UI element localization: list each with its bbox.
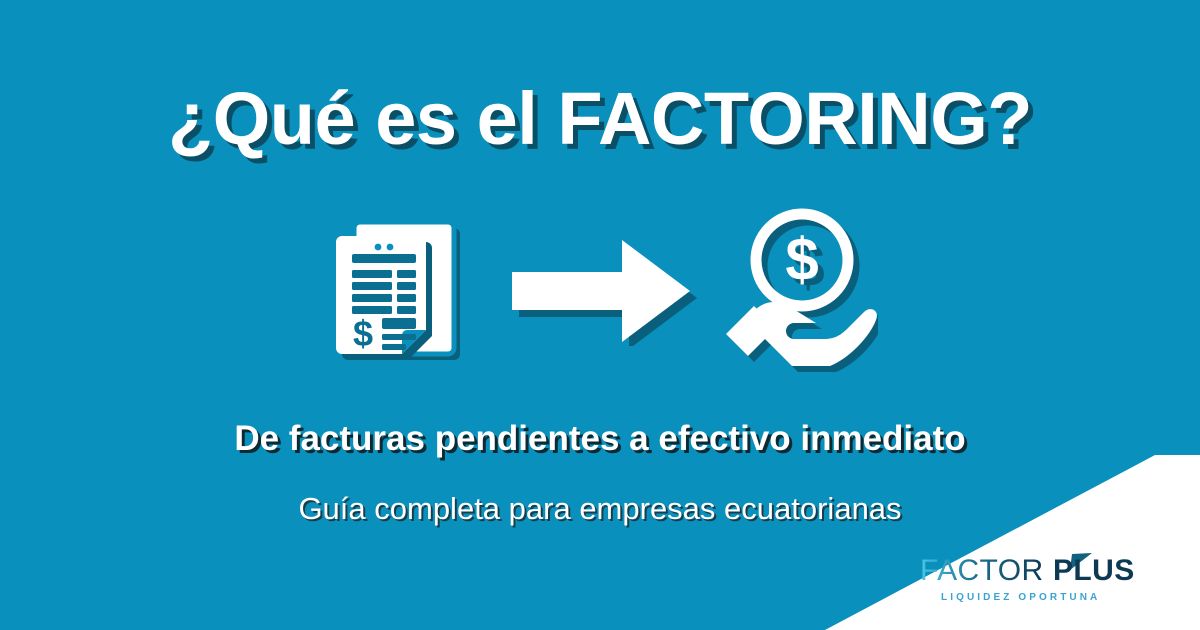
page-title: ¿Qué es el FACTORING? <box>0 82 1200 156</box>
right-arrow-icon <box>502 236 702 351</box>
subtitle-primary: De facturas pendientes a efectivo inmedi… <box>0 420 1200 459</box>
invoice-document-icon: $ <box>322 206 474 377</box>
icon-row: $ $ <box>0 206 1200 376</box>
brand-logo: FACTOR PLUS LIQUIDEZ OPORTUNA <box>920 548 1150 618</box>
poster-canvas: ¿Qué es el FACTORING? <box>0 0 1200 630</box>
svg-text:FACTOR: FACTOR <box>920 554 1044 586</box>
hand-holding-coin-icon: $ $ <box>722 206 878 377</box>
svg-text:$: $ <box>785 226 818 293</box>
logo-wordmark: FACTOR PLUS <box>920 552 1150 586</box>
svg-text:$: $ <box>353 313 373 354</box>
subtitle-secondary: Guía completa para empresas ecuatorianas <box>0 492 1200 526</box>
svg-text:PLUS: PLUS <box>1053 554 1135 586</box>
logo-slogan: LIQUIDEZ OPORTUNA <box>941 592 1100 603</box>
